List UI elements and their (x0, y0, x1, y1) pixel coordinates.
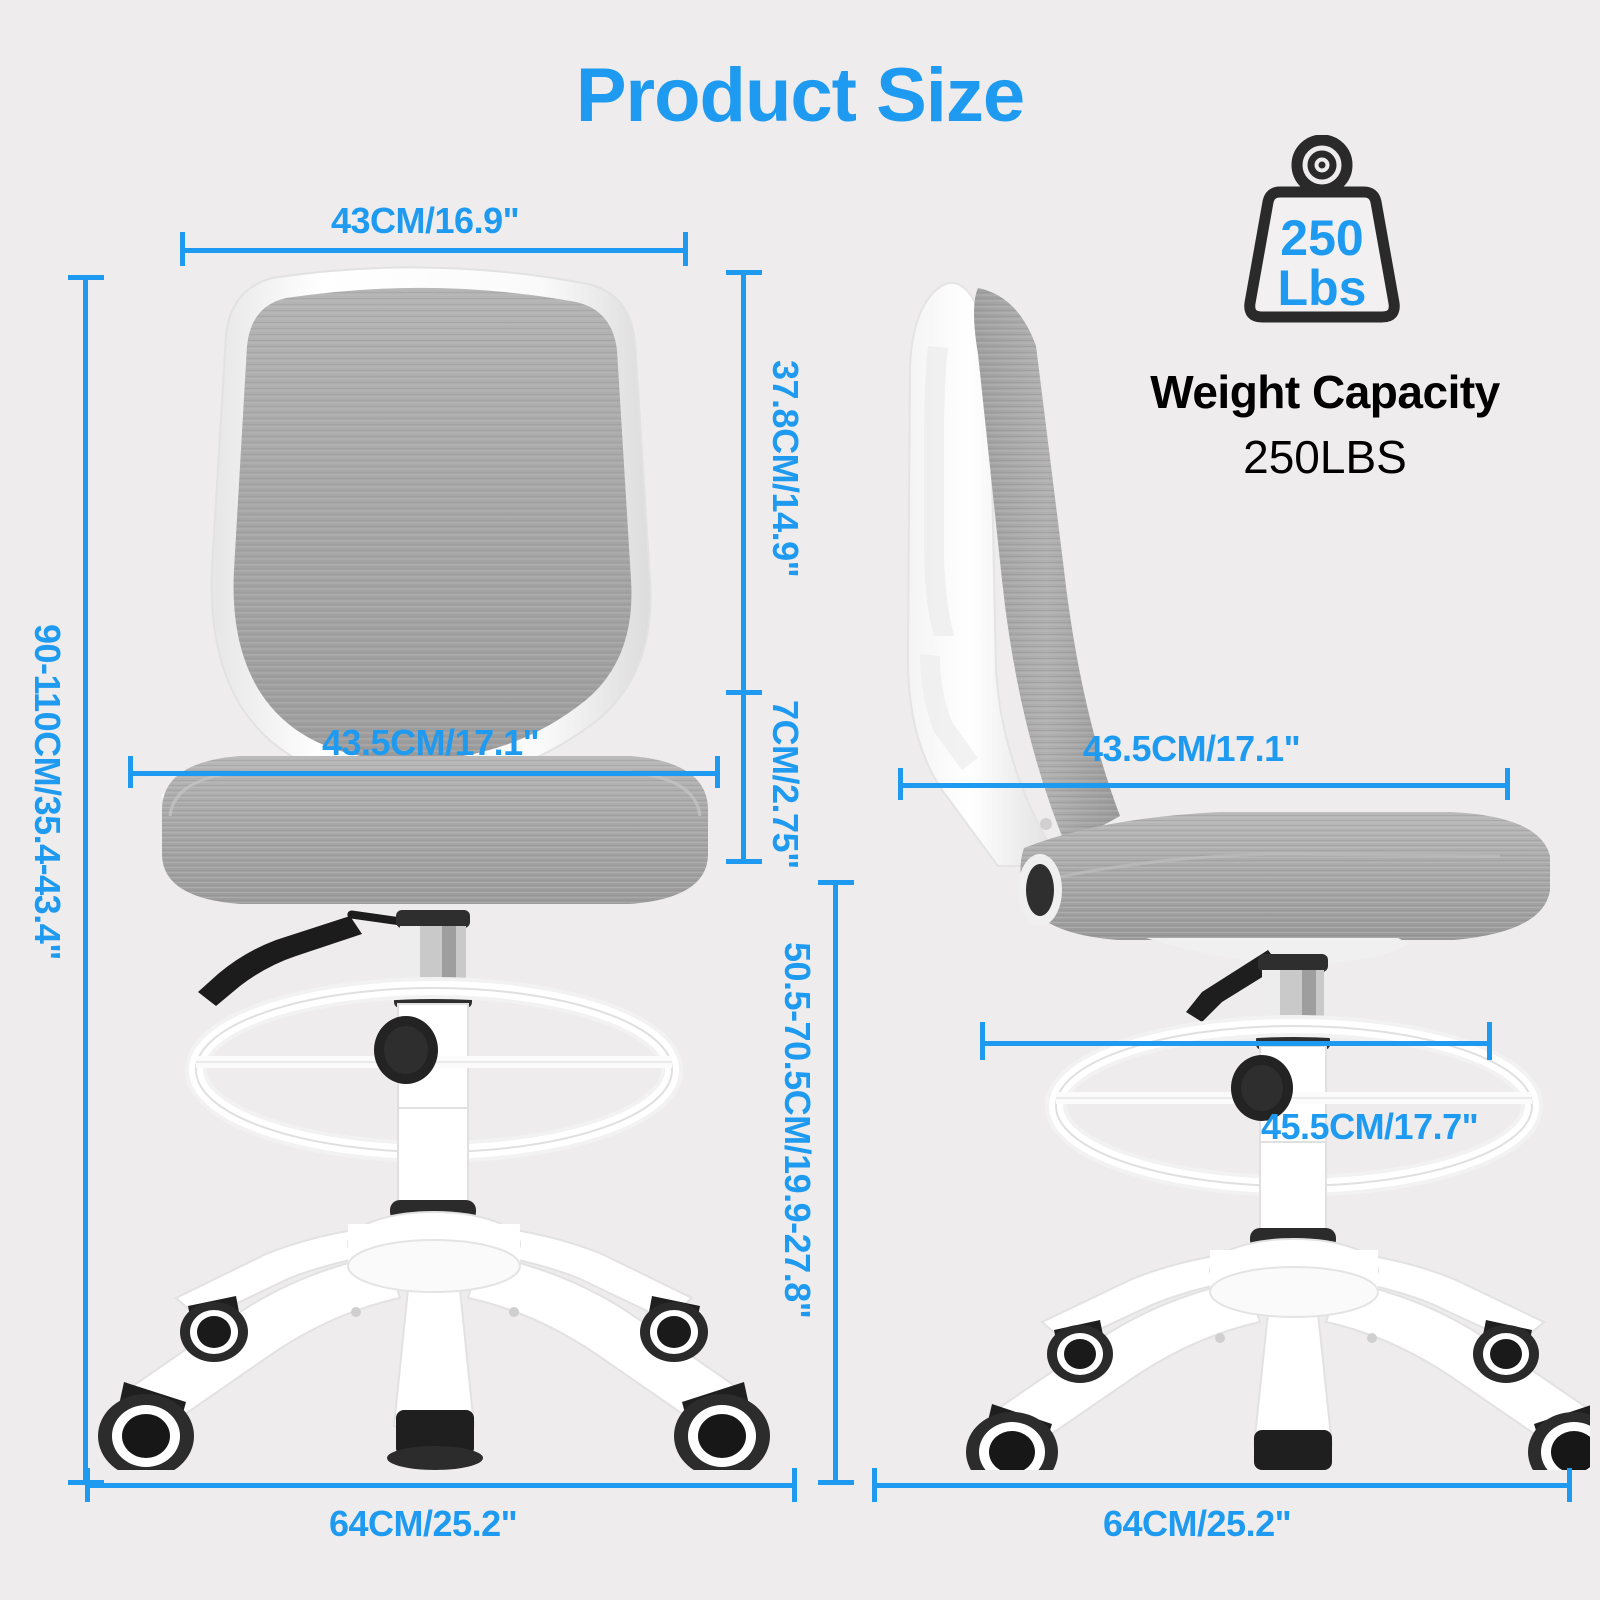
dim-cap-seat-depth-left (898, 768, 903, 800)
dim-label-seat-depth: 43.5CM/17.1" (1083, 728, 1300, 770)
dim-cap-seat-width-right (715, 756, 720, 788)
dim-line-front-base-width (85, 1483, 797, 1488)
page-title: Product Size (0, 52, 1600, 139)
dim-cap-overall-height-top (68, 275, 104, 280)
dim-cap-seat-height-top (818, 880, 854, 885)
dim-cap-footring-left (980, 1022, 985, 1060)
front-view-chair (90, 250, 790, 1470)
dim-cap-footring-right (1487, 1022, 1492, 1060)
dim-line-seat-thickness (741, 694, 746, 864)
dim-cap-front-base-right (792, 1468, 797, 1502)
dim-cap-side-base-left (872, 1468, 877, 1502)
dim-line-backrest-width (180, 248, 688, 253)
dim-line-seat-width (128, 771, 720, 776)
dim-label-seat-width: 43.5CM/17.1" (322, 722, 539, 764)
dim-line-side-base-width (872, 1483, 1572, 1488)
dim-label-backrest-height: 37.8CM/14.9" (764, 360, 806, 577)
dim-cap-backrest-width-right (683, 232, 688, 266)
dim-cap-backrest-width-left (180, 232, 185, 266)
dim-line-seat-height-range (833, 880, 838, 1485)
dim-line-seat-depth (898, 783, 1510, 788)
dim-cap-backrest-height-top (726, 270, 762, 275)
dim-label-front-base-width: 64CM/25.2" (329, 1503, 517, 1545)
dim-label-seat-thickness: 7CM/2.75" (764, 700, 806, 869)
dim-label-overall-height: 90-110CM/35.4-43.4" (26, 624, 68, 960)
dim-line-footring-diameter (980, 1041, 1492, 1046)
dim-line-overall-height (83, 275, 88, 1485)
side-view-chair (850, 250, 1590, 1470)
dim-cap-seat-height-bottom (818, 1480, 854, 1485)
dim-label-footring-diameter: 45.5CM/17.7" (1261, 1106, 1478, 1148)
dim-line-backrest-height (741, 270, 746, 694)
dim-cap-side-base-right (1567, 1468, 1572, 1502)
dim-label-backrest-width: 43CM/16.9" (331, 200, 519, 242)
dim-cap-seat-depth-right (1505, 768, 1510, 800)
dim-cap-seat-width-left (128, 756, 133, 788)
dim-cap-front-base-left (85, 1468, 90, 1502)
dim-label-seat-height-range: 50.5-70.5CM/19.9-27.8" (776, 942, 818, 1318)
product-size-infographic: Product Size 250 Lbs Weight Capacity 250… (0, 0, 1600, 1600)
dim-label-side-base-width: 64CM/25.2" (1103, 1503, 1291, 1545)
dim-cap-seat-thickness-bottom (726, 859, 762, 864)
